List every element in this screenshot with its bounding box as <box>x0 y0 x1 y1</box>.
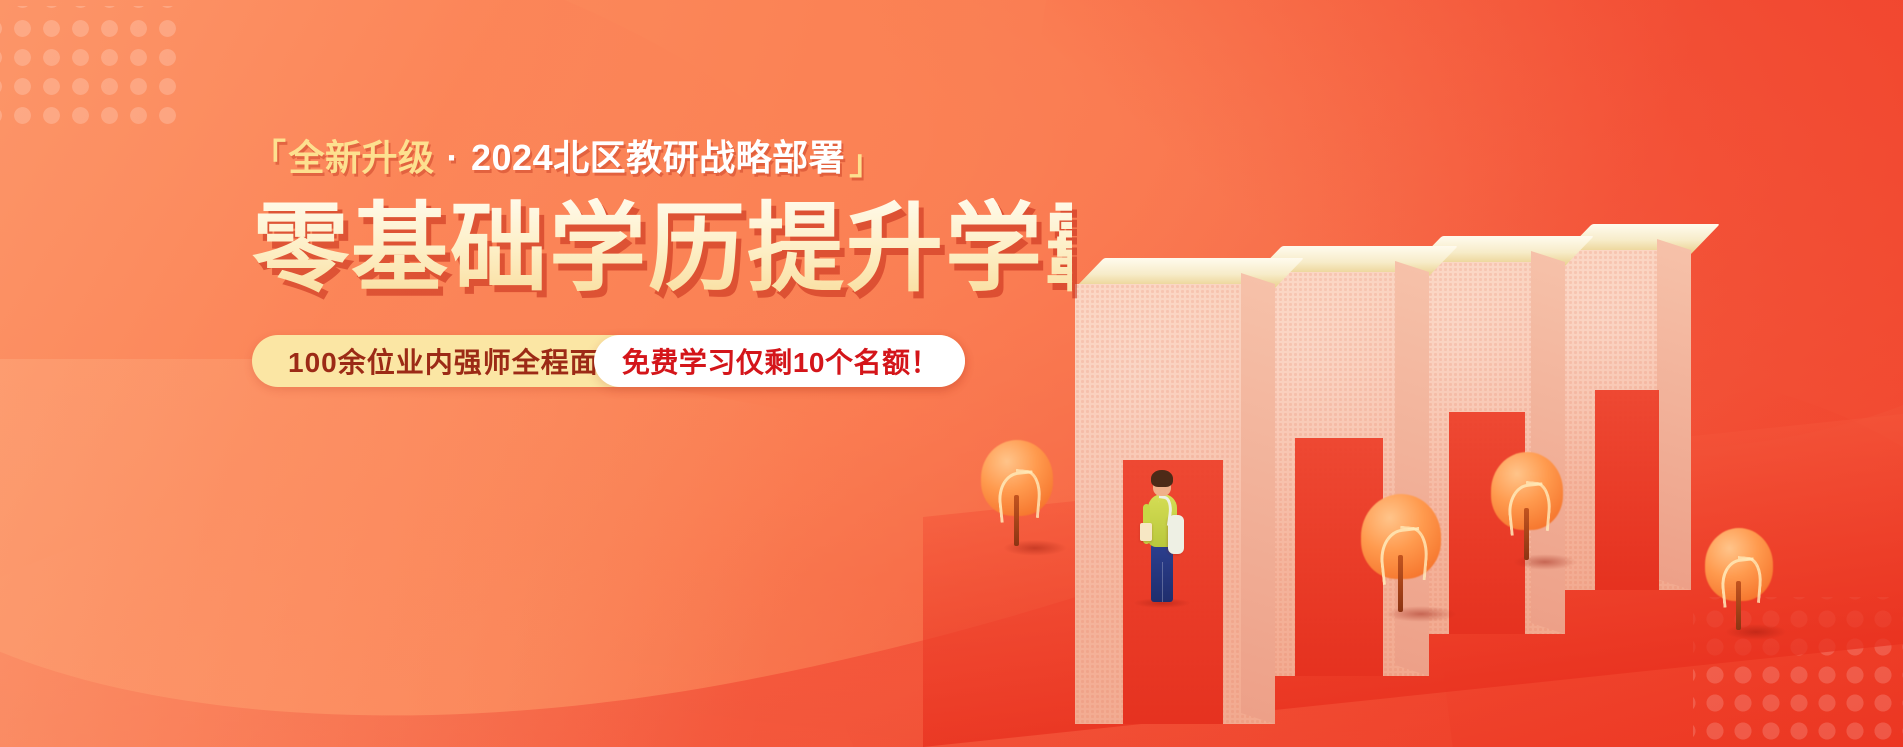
pill-quota[interactable]: 免费学习仅剩10个名额！ <box>594 335 965 387</box>
subtitle-rest: 2024北区教研战略部署 <box>471 140 845 176</box>
dot-grid-bottom-right <box>1693 597 1903 747</box>
bracket-open-icon: 「 <box>252 140 287 174</box>
copy-block: 「 全新升级 · 2024北区教研战略部署 」 零基础学历提升学霸班 100余位… <box>252 140 1072 387</box>
dot-grid-top-left <box>0 6 178 124</box>
bracket-close-icon: 」 <box>849 146 884 180</box>
subtitle-separator-icon: · <box>435 140 472 176</box>
banner-subtitle: 「 全新升级 · 2024北区教研战略部署 」 <box>252 140 1072 176</box>
promo-banner: 「 全新升级 · 2024北区教研战略部署 」 零基础学历提升学霸班 100余位… <box>0 0 1903 747</box>
pill-teachers-label: 100余位业内强师全程面授 <box>252 341 628 381</box>
pill-group: 100余位业内强师全程面授 免费学习仅剩10个名额！ <box>252 335 965 387</box>
banner-headline: 零基础学历提升学霸班 <box>252 198 1072 301</box>
pill-quota-label: 免费学习仅剩10个名额！ <box>622 341 939 381</box>
subtitle-highlight: 全新升级 <box>289 140 435 176</box>
